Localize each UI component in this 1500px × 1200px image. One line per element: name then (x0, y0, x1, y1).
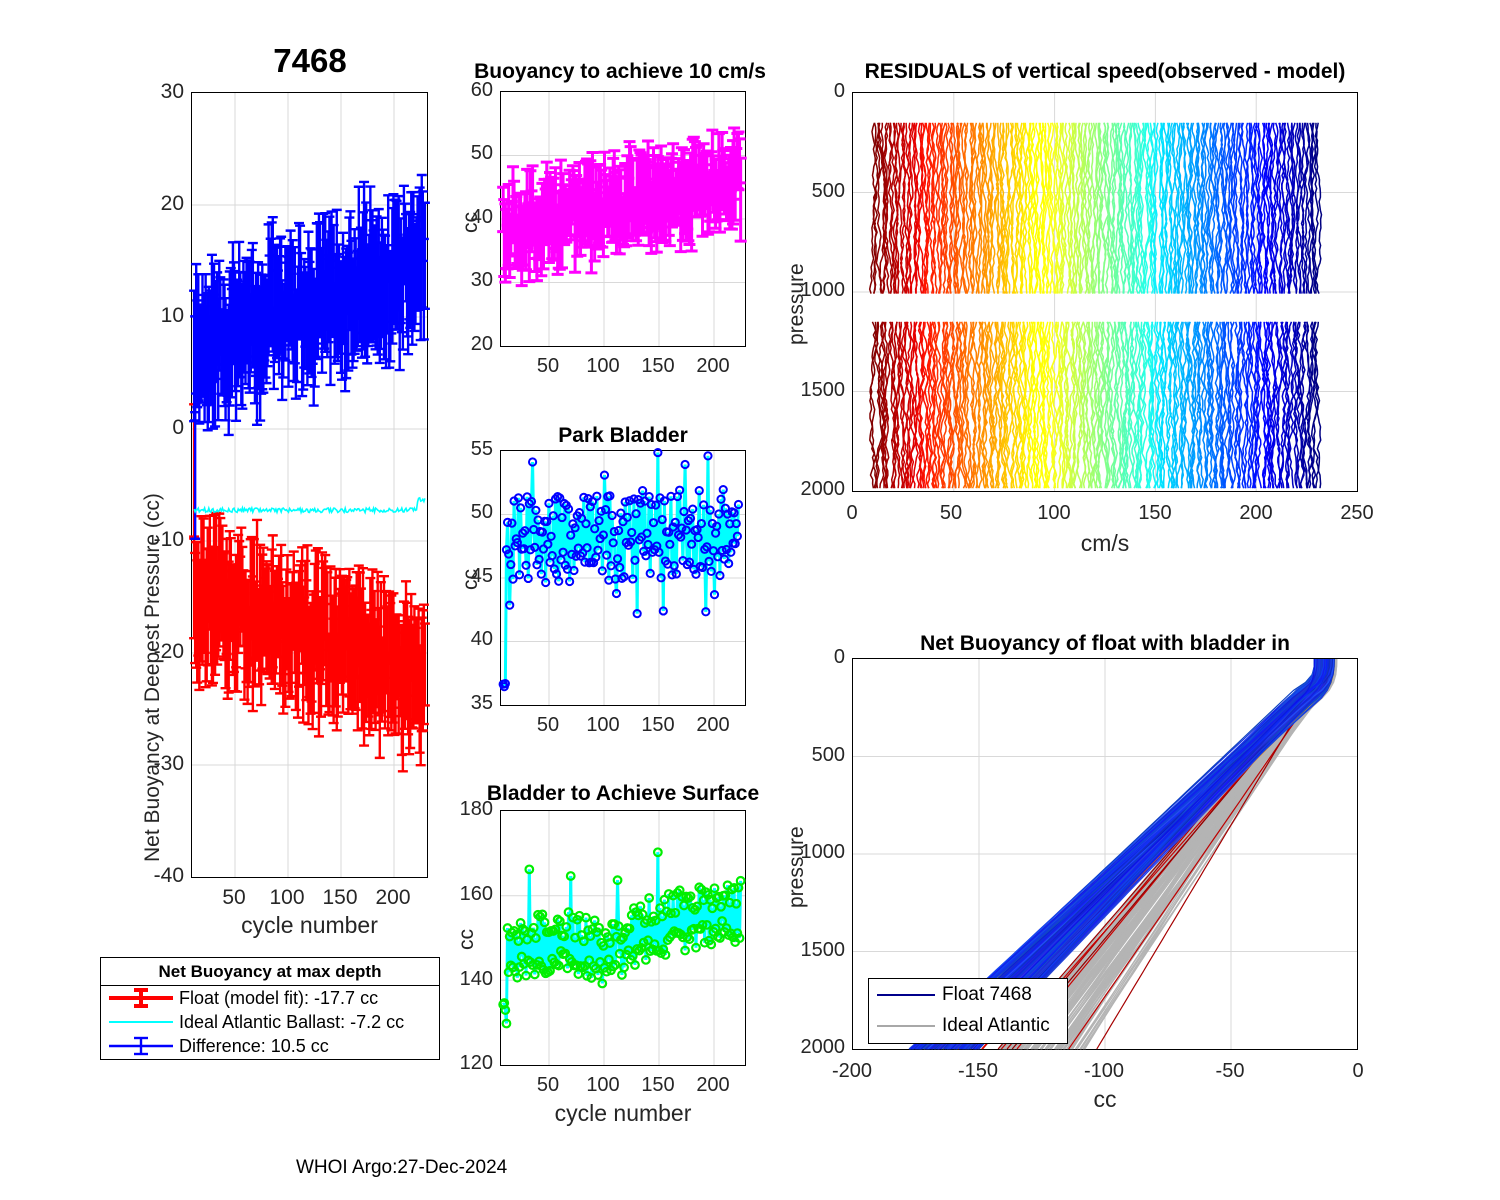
residuals-ytick-0: 0 (795, 80, 845, 103)
residuals-xtick-1: 50 (928, 502, 974, 525)
main-legend-item-difference: Difference: 10.5 cc (101, 1034, 439, 1058)
buoy10-ytick-2: 40 (455, 206, 493, 229)
residuals-ytick-2: 1000 (775, 279, 845, 302)
main-legend-title: Net Buoyancy at max depth (101, 958, 439, 986)
residuals-x-axis-label: cm/s (852, 530, 1358, 557)
main-ytick-7: -40 (139, 864, 184, 888)
footer-text: WHOI Argo:27-Dec-2024 (296, 1157, 507, 1179)
main-xtick-3: 200 (368, 886, 418, 910)
residuals-profiles (870, 123, 1322, 488)
park-xtick-3: 200 (688, 714, 738, 737)
main-legend-label-difference: Difference: 10.5 cc (179, 1036, 329, 1057)
legend-errorbar-red-icon (107, 988, 175, 1008)
buoy10-plot-area (500, 91, 746, 347)
main-ytick-5: -20 (139, 640, 184, 664)
surface-xtick-3: 200 (688, 1074, 738, 1097)
residuals-xtick-2: 100 (1026, 502, 1082, 525)
residuals-canvas (853, 93, 1357, 491)
netbuoy-legend-item-ideal: Ideal Atlantic (869, 1010, 1067, 1041)
buoy10-xtick-3: 200 (688, 355, 738, 378)
park-ytick-2: 45 (455, 565, 493, 588)
surface-y-axis-label: cc (455, 929, 479, 950)
netbuoy-legend-label-float: Float 7468 (942, 984, 1032, 1006)
park-xtick-1: 100 (578, 714, 628, 737)
netbuoy-legend-label-ideal: Ideal Atlantic (942, 1015, 1050, 1037)
park-ytick-3: 40 (455, 628, 493, 651)
main-ytick-3: 0 (146, 416, 184, 440)
main-ytick-6: -30 (139, 752, 184, 776)
legend-errorbar-blue-icon (107, 1036, 175, 1056)
netbuoy-ytick-3: 1500 (775, 939, 845, 962)
surface-ytick-2: 140 (448, 968, 493, 991)
main-ytick-0: 30 (146, 80, 184, 104)
netbuoy-legend-item-float: Float 7468 (869, 979, 1067, 1010)
main-ytick-2: 10 (146, 304, 184, 328)
netbuoy-xtick-4: 0 (1330, 1060, 1386, 1083)
surface-plot-area (500, 810, 746, 1066)
main-xtick-1: 100 (262, 886, 312, 910)
buoy10-ytick-4: 20 (455, 333, 493, 356)
main-legend: Net Buoyancy at max depth Float (model f… (100, 957, 440, 1060)
main-x-axis-label: cycle number (191, 912, 428, 939)
netbuoy-xtick-0: -200 (822, 1060, 882, 1083)
main-ytick-4: -10 (139, 528, 184, 552)
residuals-ytick-1: 500 (785, 180, 845, 203)
main-xtick-0: 50 (214, 886, 254, 910)
netbuoy-ytick-2: 1000 (775, 841, 845, 864)
residuals-xtick-5: 250 (1329, 502, 1385, 525)
park-ytick-4: 35 (455, 692, 493, 715)
netbuoy-xtick-1: -150 (948, 1060, 1008, 1083)
netbuoy-xtick-3: -50 (1200, 1060, 1260, 1083)
main-ideal-ballast-line (194, 498, 425, 513)
surface-xtick-2: 150 (633, 1074, 683, 1097)
residuals-y-axis-label: pressure (785, 263, 809, 345)
park-ytick-1: 50 (455, 501, 493, 524)
main-legend-item-float: Float (model fit): -17.7 cc (101, 986, 439, 1010)
residuals-xtick-4: 200 (1228, 502, 1284, 525)
surface-x-axis-label: cycle number (500, 1100, 746, 1127)
buoy10-xtick-0: 50 (528, 355, 568, 378)
park-title: Park Bladder (500, 424, 746, 448)
surface-ytick-1: 160 (448, 883, 493, 906)
surface-xtick-0: 50 (528, 1074, 568, 1097)
buoy10-canvas (501, 92, 745, 346)
main-legend-item-ideal: Ideal Atlantic Ballast: -7.2 cc (101, 1010, 439, 1034)
main-ytick-1: 20 (146, 192, 184, 216)
main-plot-area (191, 92, 428, 878)
buoy10-ytick-0: 60 (455, 79, 493, 102)
main-legend-label-ideal: Ideal Atlantic Ballast: -7.2 cc (179, 1012, 404, 1033)
buoy10-ytick-1: 50 (455, 142, 493, 165)
residuals-plot-area (852, 92, 1358, 492)
main-plot-title: 7468 (190, 42, 430, 80)
park-plot-area (500, 450, 746, 706)
legend-line-cyan-icon (107, 1012, 175, 1032)
park-ytick-0: 55 (455, 438, 493, 461)
residuals-title: RESIDUALS of vertical speed(observed - m… (820, 60, 1390, 84)
netbuoy-y-axis-label: pressure (785, 826, 809, 908)
surface-xtick-1: 100 (578, 1074, 628, 1097)
surface-ytick-0: 180 (448, 798, 493, 821)
netbuoy-ytick-0: 0 (795, 646, 845, 669)
park-xtick-2: 150 (633, 714, 683, 737)
legend-line-grey-icon (875, 1018, 937, 1034)
surface-ytick-3: 120 (448, 1052, 493, 1075)
buoy10-title: Buoyancy to achieve 10 cm/s (445, 60, 795, 84)
netbuoy-x-axis-label: cc (852, 1086, 1358, 1113)
main-plot-canvas (192, 93, 427, 877)
buoy10-xtick-1: 100 (578, 355, 628, 378)
legend-line-navy-icon (875, 987, 937, 1003)
main-legend-label-float: Float (model fit): -17.7 cc (179, 988, 378, 1009)
residuals-ytick-3: 1500 (775, 379, 845, 402)
buoy10-xtick-2: 150 (633, 355, 683, 378)
park-canvas (501, 451, 745, 705)
buoy10-ytick-3: 30 (455, 269, 493, 292)
main-xtick-2: 150 (315, 886, 365, 910)
netbuoy-legend: Float 7468 Ideal Atlantic (868, 978, 1068, 1044)
surface-title: Bladder to Achieve Surface (460, 782, 786, 806)
park-xtick-0: 50 (528, 714, 568, 737)
netbuoy-title: Net Buoyancy of float with bladder in (850, 632, 1360, 656)
netbuoy-ytick-1: 500 (785, 744, 845, 767)
residuals-xtick-0: 0 (832, 502, 872, 525)
netbuoy-ytick-4: 2000 (775, 1036, 845, 1059)
surface-canvas (501, 811, 745, 1065)
buoy10-errorbars (497, 128, 746, 286)
residuals-xtick-3: 150 (1127, 502, 1183, 525)
netbuoy-xtick-2: -100 (1074, 1060, 1134, 1083)
residuals-ytick-4: 2000 (775, 478, 845, 501)
